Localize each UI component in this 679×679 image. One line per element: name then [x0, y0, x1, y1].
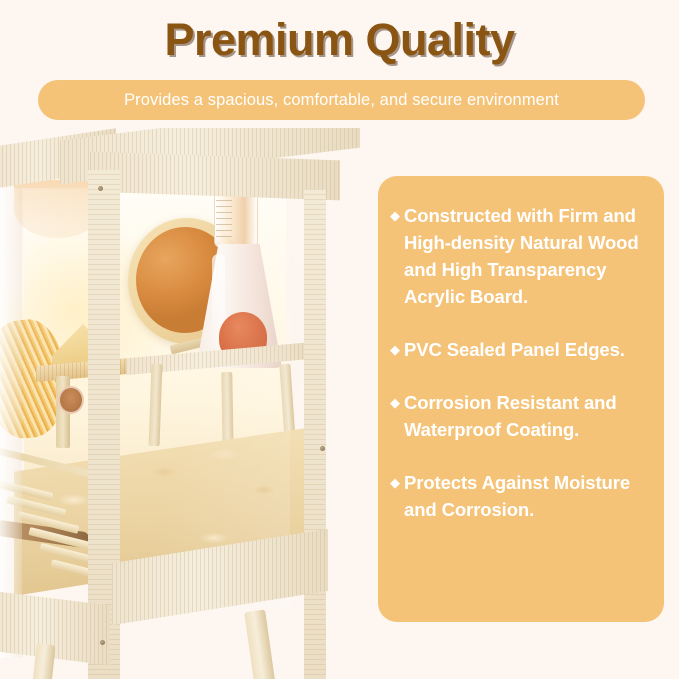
infographic-page: Premium Quality Provides a spacious, com… — [0, 0, 679, 679]
feature-text: Corrosion Resistant and Waterproof Coati… — [404, 389, 648, 443]
house-entry-hole — [58, 386, 84, 414]
feature-item: ◆ Protects Against Moisture and Corrosio… — [386, 469, 648, 523]
diamond-bullet-icon: ◆ — [386, 389, 404, 416]
feature-panel: ◆ Constructed with Firm and High-density… — [378, 176, 664, 622]
feature-text: Constructed with Firm and High-density N… — [404, 202, 648, 310]
page-title: Premium Quality — [0, 14, 679, 66]
ladder-rung — [17, 511, 79, 534]
diamond-bullet-icon: ◆ — [386, 336, 404, 363]
feature-item: ◆ Corrosion Resistant and Waterproof Coa… — [386, 389, 648, 443]
screw — [100, 640, 105, 645]
acrylic-left-edge — [0, 188, 22, 658]
screw — [98, 186, 103, 191]
diamond-bullet-icon: ◆ — [386, 469, 404, 496]
product-photo — [0, 128, 368, 679]
diamond-bullet-icon: ◆ — [386, 202, 404, 229]
feature-item: ◆ PVC Sealed Panel Edges. — [386, 336, 648, 363]
feature-text: PVC Sealed Panel Edges. — [404, 336, 625, 363]
frame-right-post — [304, 190, 326, 679]
screw — [320, 446, 325, 451]
subtitle-text: Provides a spacious, comfortable, and se… — [124, 91, 559, 110]
feature-item: ◆ Constructed with Firm and High-density… — [386, 202, 648, 310]
subtitle-pill: Provides a spacious, comfortable, and se… — [38, 80, 645, 120]
feature-text: Protects Against Moisture and Corrosion. — [404, 469, 648, 523]
